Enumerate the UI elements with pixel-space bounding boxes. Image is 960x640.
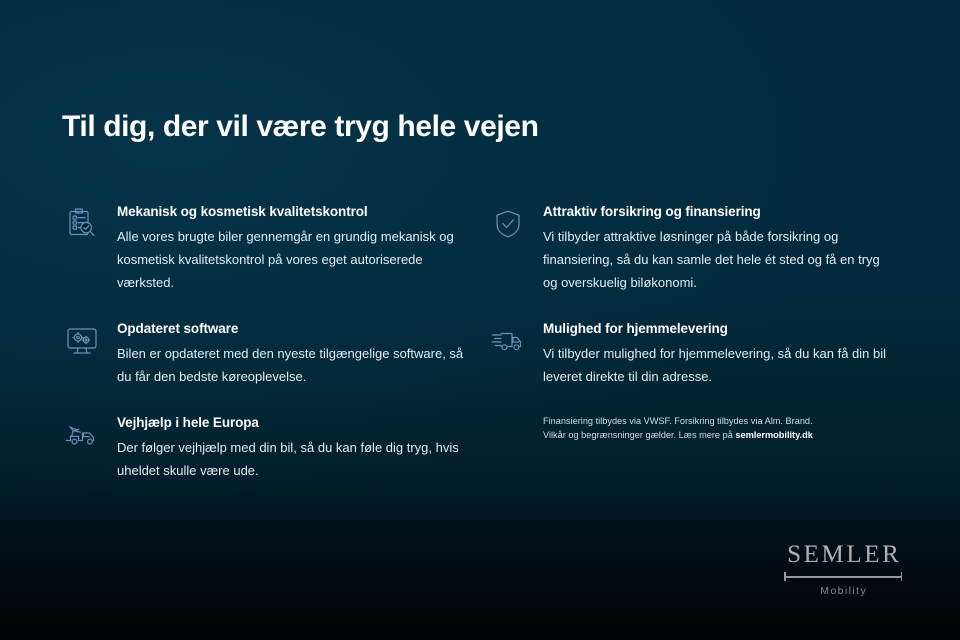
logo-rule-bar: [784, 576, 902, 578]
monitor-gears-icon: [62, 321, 102, 361]
logo-subtitle: Mobility: [784, 584, 902, 598]
feature-body: Mekanisk og kosmetisk kvalitetskontrol A…: [117, 203, 467, 294]
feature-title: Opdateret software: [117, 320, 467, 338]
feature-body: Mulighed for hjemmelevering Vi tilbyder …: [543, 320, 893, 388]
logo-divider-rule: [784, 572, 902, 581]
feature-item: Vejhjælp i hele Europa Der følger vejhjæ…: [62, 414, 482, 482]
feature-text: Bilen er opdateret med den nyeste tilgæn…: [117, 342, 467, 388]
shield-check-icon: [488, 204, 528, 244]
feature-body: Attraktiv forsikring og finansiering Vi …: [543, 203, 893, 294]
feature-text: Alle vores brugte biler gennemgår en gru…: [117, 225, 467, 294]
delivery-van-icon: [488, 321, 528, 361]
feature-item: Opdateret software Bilen er opdateret me…: [62, 320, 482, 388]
right-feature-column: Attraktiv forsikring og finansiering Vi …: [482, 203, 902, 508]
fineprint-line-2-text: Vilkår og begrænsninger gælder. Læs mere…: [543, 430, 735, 440]
feature-text: Der følger vejhjælp med din bil, så du k…: [117, 436, 467, 482]
fineprint-line-1: Finansiering tilbydes via VWSF. Forsikri…: [543, 414, 873, 428]
feature-text: Vi tilbyder attraktive løsninger på både…: [543, 225, 893, 294]
slide-root: Til dig, der vil være tryg hele vejen: [0, 0, 960, 640]
feature-item: Mulighed for hjemmelevering Vi tilbyder …: [488, 320, 902, 388]
fineprint-line-2: Vilkår og begrænsninger gælder. Læs mere…: [543, 428, 873, 442]
logo-rule-cap-right: [901, 572, 903, 581]
semler-mobility-logo: SEMLER Mobility: [784, 541, 902, 598]
feature-title: Vejhjælp i hele Europa: [117, 414, 467, 432]
feature-columns: Mekanisk og kosmetisk kvalitetskontrol A…: [62, 203, 902, 508]
feature-title: Mulighed for hjemmelevering: [543, 320, 893, 338]
left-feature-column: Mekanisk og kosmetisk kvalitetskontrol A…: [62, 203, 482, 508]
logo-wordmark: SEMLER: [784, 541, 902, 568]
feature-item: Attraktiv forsikring og finansiering Vi …: [488, 203, 902, 294]
fineprint-link[interactable]: semlermobility.dk: [735, 430, 812, 440]
clipboard-checklist-magnifier-icon: [62, 204, 102, 244]
feature-text: Vi tilbyder mulighed for hjemmelevering,…: [543, 342, 893, 388]
feature-body: Opdateret software Bilen er opdateret me…: [117, 320, 467, 388]
page-title: Til dig, der vil være tryg hele vejen: [62, 108, 539, 146]
feature-title: Attraktiv forsikring og finansiering: [543, 203, 893, 221]
feature-body: Vejhjælp i hele Europa Der følger vejhjæ…: [117, 414, 467, 482]
feature-title: Mekanisk og kosmetisk kvalitetskontrol: [117, 203, 467, 221]
legal-fineprint: Finansiering tilbydes via VWSF. Forsikri…: [543, 414, 873, 442]
tow-truck-icon: [62, 415, 102, 455]
feature-item: Mekanisk og kosmetisk kvalitetskontrol A…: [62, 203, 482, 294]
